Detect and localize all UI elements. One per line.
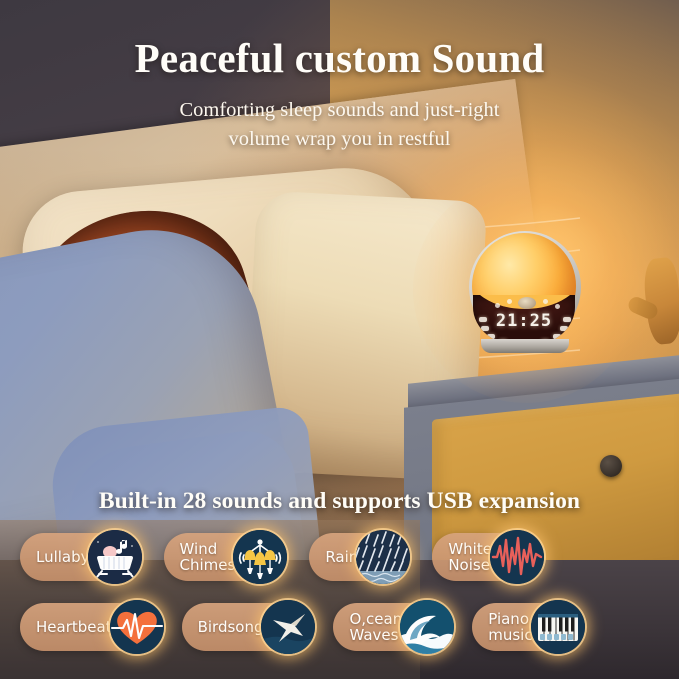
sound-pill-label: O,cean Waves (349, 611, 402, 643)
piano-icon[interactable] (531, 600, 585, 654)
product-marketing-image: 21:25 Peaceful custom Sound Comforting s… (0, 0, 679, 679)
subheadline: Comforting sleep sounds and just-right v… (0, 96, 679, 154)
lamp-button[interactable] (563, 317, 571, 322)
sound-pill-wind-chimes[interactable]: Wind Chimes (164, 533, 280, 581)
sound-pill-piano-music[interactable]: Piano music (472, 603, 576, 651)
rain-icon[interactable] (356, 530, 410, 584)
lamp-base (481, 339, 569, 353)
panel-indicator-dot (543, 299, 548, 304)
page-title: Peaceful custom Sound (0, 38, 679, 79)
sound-pill-label: Heartbeat (36, 619, 112, 635)
lamp-button[interactable] (479, 317, 487, 322)
wind-chimes-icon[interactable] (233, 530, 287, 584)
sound-pill-label: Birdsong (198, 619, 264, 635)
sound-pill-rain[interactable]: Rain (309, 533, 402, 581)
heart-ecg-icon[interactable] (110, 600, 164, 654)
sound-pill-row-1: Lullaby Wind Chimes (0, 533, 679, 581)
waveform-icon[interactable] (490, 530, 544, 584)
lamp-sensor-icon (518, 297, 536, 309)
lamp-button[interactable] (481, 326, 489, 331)
sound-pill-label: Rain (325, 549, 358, 565)
panel-indicator-dot (507, 299, 512, 304)
sound-pill-label: Lullaby (36, 549, 90, 565)
sound-pill-row-2: Heartbeat Birdsong O,cean Waves Piano mu… (0, 603, 679, 651)
panel-indicator-dot (555, 304, 560, 309)
sound-pill-label: Piano music (488, 611, 532, 643)
lamp-button[interactable] (560, 326, 568, 331)
ocean-wave-icon[interactable] (400, 600, 454, 654)
sound-pill-o-cean-waves[interactable]: O,cean Waves (333, 603, 446, 651)
sound-pill-label: Wind Chimes (180, 541, 236, 573)
drawer-knob-icon (600, 455, 622, 477)
sound-pill-lullaby[interactable]: Lullaby (20, 533, 134, 581)
sound-pill-label: White Noise (448, 541, 492, 573)
subheadline-line-2: volume wrap you in restful (0, 125, 679, 154)
cradle-icon[interactable] (88, 530, 142, 584)
feature-banner: Built-in 28 sounds and supports USB expa… (0, 488, 679, 515)
subheadline-line-1: Comforting sleep sounds and just-right (0, 96, 679, 125)
panel-indicator-dot (495, 303, 500, 308)
sound-pill-white-noise[interactable]: White Noise (432, 533, 536, 581)
sound-pill-birdsong[interactable]: Birdsong (182, 603, 308, 651)
sunrise-alarm-clock-device: 21:25 (469, 231, 581, 355)
bird-icon[interactable] (261, 600, 315, 654)
sound-pill-heartbeat[interactable]: Heartbeat (20, 603, 156, 651)
